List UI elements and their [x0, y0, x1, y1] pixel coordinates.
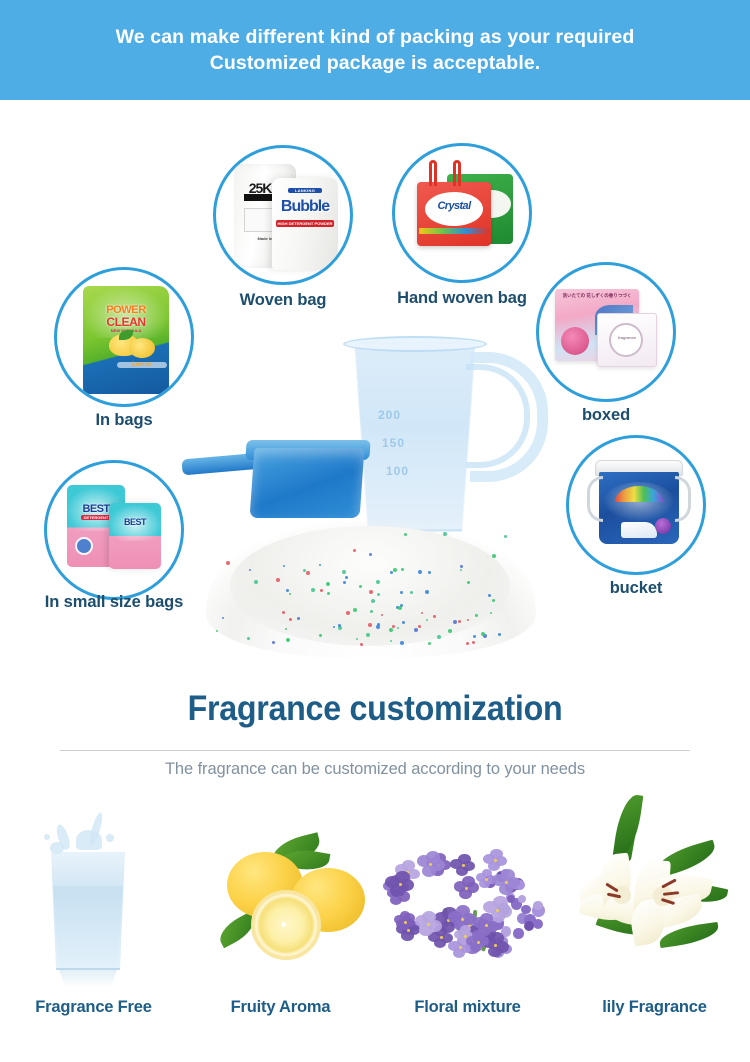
- box-brand-small-text: fragrance: [597, 335, 657, 340]
- powder-speck: [343, 581, 346, 584]
- box-jp-text: 洗いたての 花しずくの香りつづく: [555, 293, 639, 299]
- powder-speck: [286, 638, 290, 642]
- lilac-petal: [400, 911, 411, 920]
- lilac-petal: [395, 871, 410, 883]
- packing-label-boxed: boxed: [546, 405, 666, 425]
- powder-speck: [475, 614, 478, 617]
- powder-speck: [289, 593, 291, 595]
- fragrance-section-subtitle: The fragrance can be customized accordin…: [0, 758, 750, 780]
- powder-speck: [433, 615, 436, 618]
- sack-brand-top-text: LANKING: [288, 188, 322, 193]
- sack-brand-text: Bubble: [272, 198, 338, 216]
- powder-speck: [285, 628, 287, 630]
- lilac-petal: [458, 854, 470, 864]
- lilac-petal: [462, 876, 475, 887]
- packing-section: 200 150 100 POWER CLEAN NEW FORMULA Lemo…: [0, 100, 750, 660]
- sack-tagline-text: HIGH DETERGENT POWDER: [276, 220, 334, 227]
- crystal-tote-art: Crystal: [395, 146, 529, 280]
- product-detail-page: We can make different kind of packing as…: [0, 0, 750, 1062]
- powder-speck: [377, 593, 380, 596]
- lilac-floret-center: [399, 883, 402, 886]
- packing-circle-small-bags: BEST DETERGENT BEST: [44, 460, 184, 600]
- packing-circle-hand-woven-bag: Crystal: [392, 143, 532, 283]
- power-clean-bottom-text: CLEAN: [83, 315, 169, 329]
- packing-circle-woven-bag: 25KG Made in LANKING Bubble HIGH DETERGE…: [213, 145, 353, 285]
- banner-line-1: We can make different kind of packing as…: [25, 24, 725, 50]
- powder-speck: [346, 611, 350, 615]
- fragrance-label-fruity: Fruity Aroma: [187, 998, 374, 1017]
- lilac-petal: [480, 913, 493, 924]
- power-clean-flavor-text: Lemon: [117, 362, 167, 368]
- lilac-petal: [456, 905, 470, 917]
- lilac-floret-center: [407, 929, 410, 932]
- measuring-cup-rim: [343, 336, 487, 352]
- fragrance-label-floral: Floral mixture: [374, 998, 561, 1017]
- packing-label-woven-bag: Woven bag: [203, 290, 363, 310]
- powder-speck: [490, 612, 492, 614]
- header-banner: We can make different kind of packing as…: [0, 0, 750, 100]
- lilac-floret-center: [461, 918, 464, 921]
- lilac-bud: [513, 928, 523, 938]
- lilac-floret-center: [465, 887, 468, 890]
- powder-speck: [369, 553, 372, 556]
- powder-speck: [404, 533, 407, 536]
- lilac-bud: [507, 895, 515, 903]
- carton-boxes-art: 洗いたての 花しずくの香りつづく fragrance: [539, 265, 673, 399]
- packing-circle-boxed: 洗いたての 花しずくの香りつづく fragrance: [536, 262, 676, 402]
- lilac-petal: [490, 932, 504, 944]
- fragrance-section-title: Fragrance customization: [30, 688, 720, 730]
- powder-speck: [338, 624, 341, 627]
- lilac-petal: [402, 860, 415, 871]
- powder-speck: [437, 635, 441, 639]
- banner-line-2: Customized package is acceptable.: [25, 50, 725, 76]
- packing-label-in-bags: In bags: [34, 410, 214, 430]
- powder-speck: [418, 625, 421, 628]
- sachet-brand-text-2: BEST: [109, 517, 161, 527]
- powder-speck: [443, 532, 447, 536]
- powder-speck: [306, 571, 310, 575]
- lilac-floret-center: [485, 878, 488, 881]
- packing-circle-bucket: [566, 435, 706, 575]
- lilac-art: [374, 790, 561, 995]
- lilac-bud: [521, 905, 530, 914]
- fragrance-option-floral: Floral mixture: [374, 790, 561, 1062]
- lily-art: [561, 790, 748, 995]
- cup-mark-200: 200: [378, 408, 401, 422]
- packing-label-hand-woven-bag: Hand woven bag: [382, 288, 542, 308]
- fragrance-label-free: Fragrance Free: [0, 998, 187, 1017]
- lilac-floret-center: [462, 864, 465, 867]
- best-sachets-art: BEST DETERGENT BEST: [47, 463, 181, 597]
- lilac-petal: [501, 869, 515, 881]
- water-glass-art: [0, 790, 187, 995]
- lilac-bud: [533, 901, 542, 910]
- fragrance-option-fruity: Fruity Aroma: [187, 790, 374, 1062]
- packing-label-bucket: bucket: [576, 578, 696, 598]
- sachet-sub-text: DETERGENT: [81, 515, 111, 520]
- powder-speck: [297, 617, 300, 620]
- lilac-petal: [490, 849, 502, 859]
- detergent-hero-image: 200 150 100: [170, 330, 570, 730]
- fragrance-label-lily: lily Fragrance: [561, 998, 748, 1017]
- section-divider: [60, 750, 690, 751]
- powder-speck: [276, 578, 280, 582]
- lilac-bud: [524, 921, 534, 931]
- power-clean-bag-art: POWER CLEAN NEW FORMULA Lemon: [57, 270, 191, 404]
- powder-speck: [353, 608, 357, 612]
- powder-speck: [327, 592, 330, 595]
- fragrance-options-row: Fragrance Free Fruity Aroma Floral mixtu…: [0, 790, 750, 1062]
- powder-speck: [504, 535, 507, 538]
- lilac-floret-center: [477, 941, 480, 944]
- detergent-bucket-art: [569, 438, 703, 572]
- lemons-art: [187, 790, 374, 995]
- powder-speck: [371, 599, 375, 603]
- fragrance-option-free: Fragrance Free: [0, 790, 187, 1062]
- packing-label-small-bags: In small size bags: [14, 592, 214, 612]
- powder-speck: [319, 634, 322, 637]
- banner-text: We can make different kind of packing as…: [25, 24, 725, 76]
- powder-pile-highlight: [230, 526, 510, 646]
- lilac-floret-center: [404, 921, 407, 924]
- powder-speck: [414, 628, 418, 632]
- packing-circle-in-bags: POWER CLEAN NEW FORMULA Lemon: [54, 267, 194, 407]
- powder-speck: [226, 561, 230, 565]
- woven-sacks-art: 25KG Made in LANKING Bubble HIGH DETERGE…: [216, 148, 350, 282]
- glass-reflection: [50, 970, 126, 988]
- glass-icon: [46, 852, 130, 970]
- powder-speck: [366, 633, 370, 637]
- powder-speck: [345, 576, 348, 579]
- powder-speck: [492, 599, 495, 602]
- fragrance-option-lily: lily Fragrance: [561, 790, 748, 1062]
- powder-speck: [448, 629, 452, 633]
- cup-mark-150: 150: [382, 436, 405, 450]
- lilac-bud: [518, 895, 526, 903]
- cup-mark-100: 100: [386, 464, 409, 478]
- powder-speck: [467, 619, 469, 621]
- lilac-floret-center: [485, 924, 488, 927]
- powder-speck: [326, 582, 330, 586]
- tote-brand-text: Crystal: [425, 200, 483, 212]
